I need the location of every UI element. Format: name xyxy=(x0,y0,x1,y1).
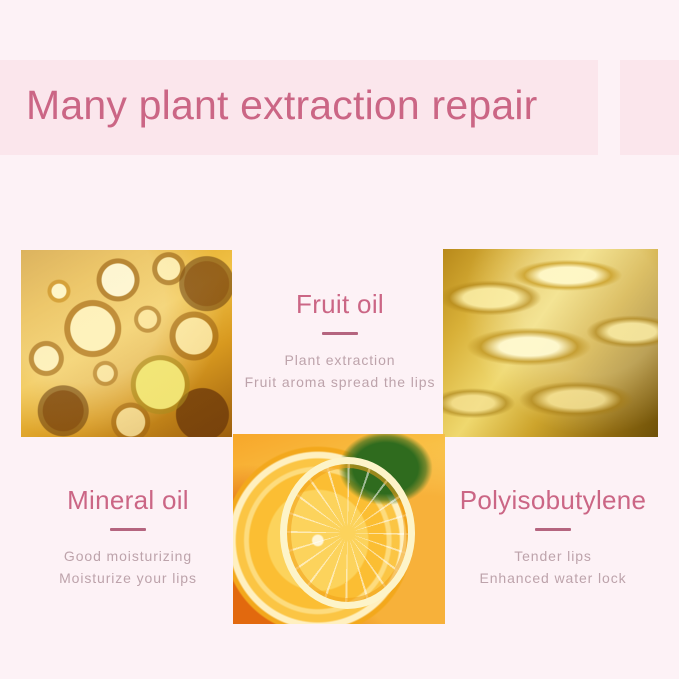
info-block-mineral-oil: Mineral oil Good moisturizing Moisturize… xyxy=(22,484,234,589)
image-oil-bubbles xyxy=(21,250,232,437)
product-infographic: Many plant extraction repair Fruit oil P… xyxy=(0,0,679,679)
heading-fruit-oil: Fruit oil xyxy=(240,288,440,320)
divider-polyisobutylene xyxy=(535,528,571,531)
header-band-right-segment xyxy=(620,60,679,155)
desc-fruit-oil-line-2: Fruit aroma spread the lips xyxy=(240,371,440,393)
info-block-fruit-oil: Fruit oil Plant extraction Fruit aroma s… xyxy=(240,288,440,393)
desc-mineral-oil-line-1: Good moisturizing xyxy=(22,545,234,567)
divider-fruit-oil xyxy=(322,332,358,335)
orange-rind-decor xyxy=(280,457,416,609)
info-block-polyisobutylene: Polyisobutylene Tender lips Enhanced wat… xyxy=(447,484,659,589)
desc-polyisobutylene-line-1: Tender lips xyxy=(447,545,659,567)
desc-fruit-oil-line-1: Plant extraction xyxy=(240,349,440,371)
desc-mineral-oil-line-2: Moisturize your lips xyxy=(22,567,234,589)
divider-mineral-oil xyxy=(110,528,146,531)
image-orange-slice xyxy=(233,434,445,624)
desc-polyisobutylene-line-2: Enhanced water lock xyxy=(447,567,659,589)
heading-polyisobutylene: Polyisobutylene xyxy=(447,484,659,516)
page-title: Many plant extraction repair xyxy=(26,74,626,136)
heading-mineral-oil: Mineral oil xyxy=(22,484,234,516)
image-golden-capsules xyxy=(443,249,658,437)
